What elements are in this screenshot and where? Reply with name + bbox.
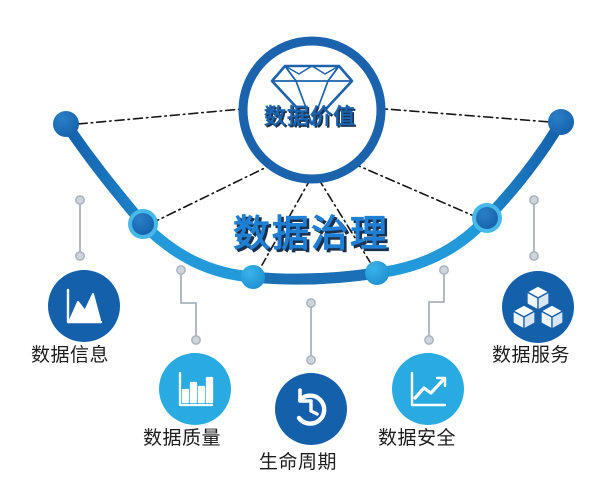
curve-endpoint-right (548, 109, 574, 135)
leader-line-data-security (429, 270, 444, 340)
node-data-security[interactable] (392, 353, 464, 425)
node-data-service[interactable] (502, 271, 574, 343)
data-governance-infographic: 数据价值 数据治理 数据信息 数据质量 生命周期 数据安全 数据服务 (0, 0, 612, 500)
leader-dot-lifecycle-top (307, 299, 315, 307)
node-data-quality[interactable] (159, 353, 231, 425)
leader-dot-security-bottom (425, 336, 433, 344)
node-label-lifecycle: 生命周期 (259, 452, 337, 474)
leader-dot-quality-top (177, 266, 185, 274)
node-circle-data-info (48, 270, 120, 342)
arc-segment-right (487, 122, 561, 218)
leader-dot-info-top (76, 196, 84, 204)
leader-dot-lifecycle-bottom (307, 356, 315, 364)
arc-segment-left (66, 124, 143, 224)
curve-endpoint-left (53, 111, 79, 137)
curve-node-mid-left (241, 265, 265, 289)
leader-line-data-quality (181, 270, 196, 340)
node-label-data-quality: 数据质量 (143, 428, 221, 450)
node-label-data-info: 数据信息 (31, 345, 109, 367)
curve-node-right (476, 207, 498, 229)
leader-dot-service-bottom (530, 252, 538, 260)
node-data-info[interactable] (48, 270, 120, 342)
arc-segment-center (253, 273, 377, 279)
dashdot-hub-to-endpoint-left (78, 108, 253, 124)
center-title: 数据治理 (233, 203, 389, 257)
node-label-data-service: 数据服务 (492, 345, 570, 367)
leader-dot-service-top (530, 196, 538, 204)
hub-label: 数据价值 (264, 99, 356, 131)
node-lifecycle[interactable] (275, 373, 347, 445)
dashdot-hub-to-endpoint-right (373, 108, 550, 122)
curve-node-left (132, 213, 154, 235)
curve-node-mid-right (365, 261, 389, 285)
leader-dot-security-top (440, 266, 448, 274)
arc-segment-right-mid (377, 218, 487, 273)
leader-dot-quality-bottom (192, 336, 200, 344)
leader-dot-info-bottom (76, 252, 84, 260)
node-label-data-security: 数据安全 (378, 428, 456, 450)
